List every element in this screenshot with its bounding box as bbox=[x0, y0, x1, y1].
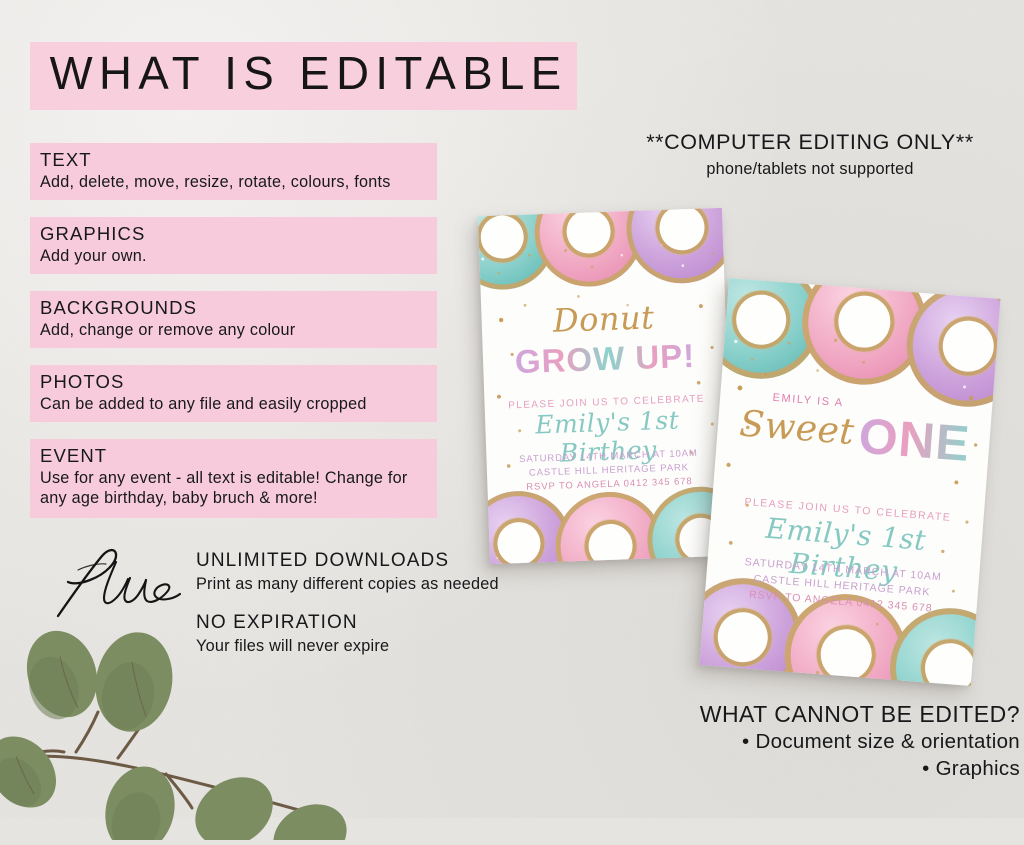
plus-item-unlimited-downloads: UNLIMITED DOWNLOADS Print as many differ… bbox=[196, 551, 536, 594]
cannot-be-edited-block: WHAT CANNOT BE EDITED? • Document size &… bbox=[560, 700, 1020, 783]
plus-item-description: Print as many different copies as needed bbox=[196, 575, 536, 595]
cannot-be-edited-item-1: • Document size & orientation bbox=[560, 729, 1020, 756]
feature-heading: PHOTOS bbox=[40, 372, 431, 391]
plus-item-heading: UNLIMITED DOWNLOADS bbox=[196, 551, 536, 572]
page-title: WHAT IS EDITABLE bbox=[50, 46, 568, 100]
cannot-be-edited-item-2: • Graphics bbox=[560, 756, 1020, 783]
feature-heading: GRAPHICS bbox=[40, 224, 431, 243]
feature-band-backgrounds: BACKGROUNDS Add, change or remove any co… bbox=[30, 291, 437, 348]
feature-description-line2: any age birthday, baby bruch & more! bbox=[40, 489, 431, 509]
feature-band-photos: PHOTOS Can be added to any file and easi… bbox=[30, 365, 437, 422]
feature-heading: EVENT bbox=[40, 446, 431, 465]
invitation-card-donut-grow-up[interactable]: Donut GROW UP! PLEASE JOIN US TO CELEBRA… bbox=[478, 208, 734, 564]
card-script-line: Donut bbox=[481, 296, 726, 342]
feature-band-event: EVENT Use for any event - all text is ed… bbox=[30, 439, 437, 518]
computer-editing-title: **COMPUTER EDITING ONLY** bbox=[604, 130, 1016, 155]
feature-description: Can be added to any file and easily crop… bbox=[40, 395, 431, 415]
card-headline: GROW UP! bbox=[482, 336, 727, 382]
feature-heading: TEXT bbox=[40, 150, 431, 169]
feature-band-text: TEXT Add, delete, move, resize, rotate, … bbox=[30, 143, 437, 200]
feature-band-graphics: GRAPHICS Add your own. bbox=[30, 217, 437, 274]
eucalyptus-branch-decoration bbox=[0, 600, 350, 840]
feature-description: Add, delete, move, resize, rotate, colou… bbox=[40, 173, 431, 193]
feature-description: Add, change or remove any colour bbox=[40, 321, 431, 341]
computer-editing-subtitle: phone/tablets not supported bbox=[604, 160, 1016, 179]
page-title-band: WHAT IS EDITABLE bbox=[30, 42, 577, 110]
feature-description: Add your own. bbox=[40, 247, 431, 267]
computer-editing-notice: **COMPUTER EDITING ONLY** phone/tablets … bbox=[604, 130, 1016, 179]
cannot-be-edited-title: WHAT CANNOT BE EDITED? bbox=[560, 700, 1020, 729]
feature-description: Use for any event - all text is editable… bbox=[40, 469, 431, 489]
feature-heading: BACKGROUNDS bbox=[40, 298, 431, 317]
card-headline: ONE bbox=[839, 405, 989, 474]
invitation-card-sweet-one[interactable]: EMILY IS A Sweet ONE PLEASE JOIN US TO C… bbox=[700, 278, 1001, 686]
donut-graphic bbox=[625, 208, 734, 285]
